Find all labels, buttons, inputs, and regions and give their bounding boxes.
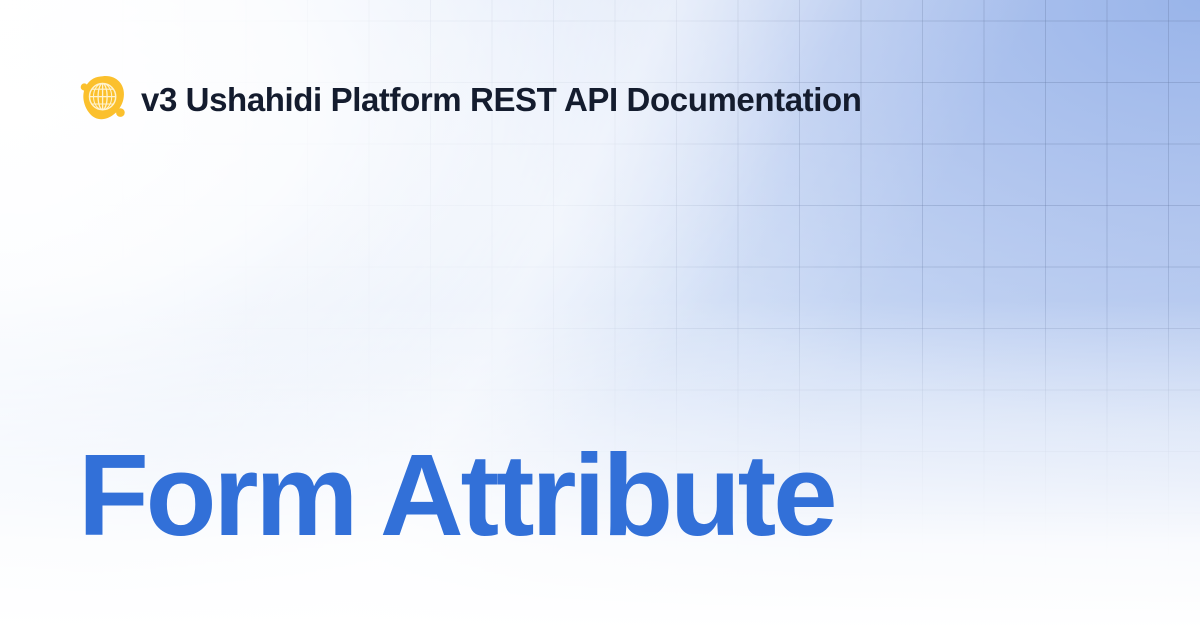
ushahidi-globe-logo-icon bbox=[78, 74, 128, 124]
brand-row: v3 Ushahidi Platform REST API Documentat… bbox=[78, 74, 862, 124]
og-card: v3 Ushahidi Platform REST API Documentat… bbox=[0, 0, 1200, 630]
card-content: v3 Ushahidi Platform REST API Documentat… bbox=[0, 0, 1200, 630]
page-title: Form Attribute bbox=[78, 437, 834, 553]
brand-title: v3 Ushahidi Platform REST API Documentat… bbox=[141, 83, 862, 116]
